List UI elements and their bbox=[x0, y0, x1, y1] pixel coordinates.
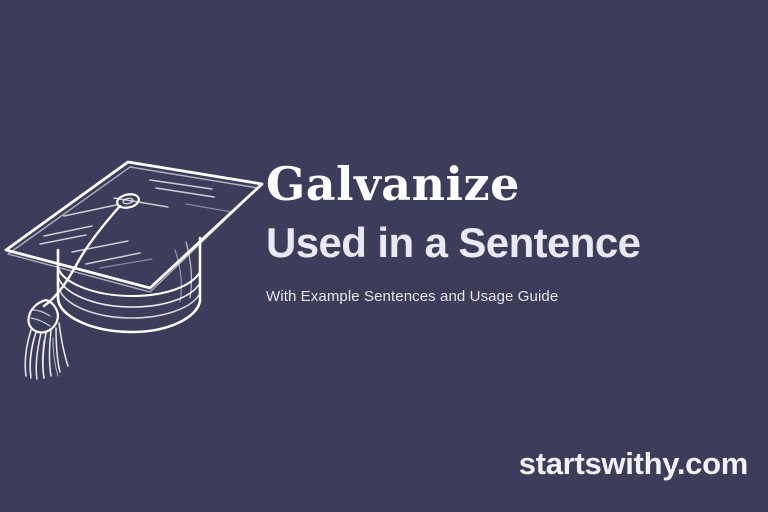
page-title-word: Galvanize bbox=[266, 160, 756, 208]
headline: Used in a Sentence bbox=[266, 220, 756, 265]
word-banner-card: Galvanize Used in a Sentence With Exampl… bbox=[0, 0, 768, 512]
subtitle: With Example Sentences and Usage Guide bbox=[266, 287, 756, 307]
banner-text-block: Galvanize Used in a Sentence With Exampl… bbox=[266, 160, 756, 306]
graduation-cap-icon bbox=[0, 138, 270, 378]
brand-site-name: startswithy.com bbox=[519, 446, 748, 482]
